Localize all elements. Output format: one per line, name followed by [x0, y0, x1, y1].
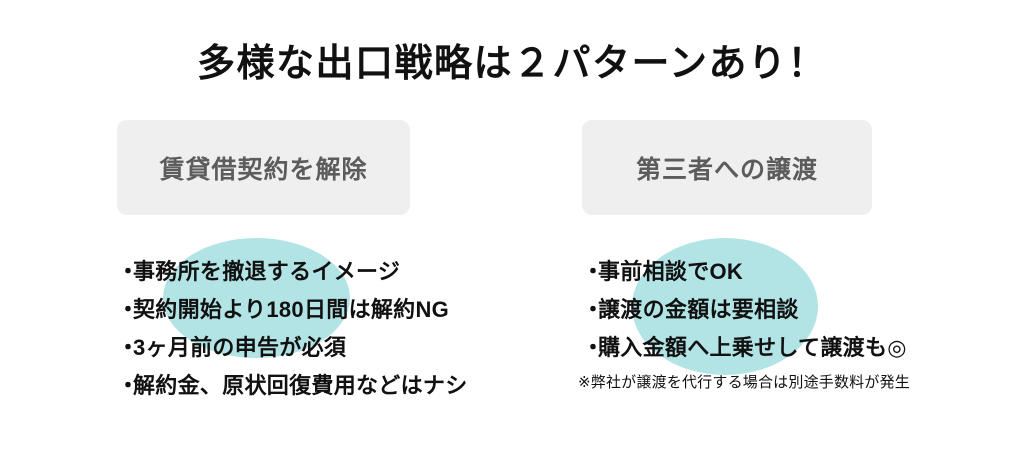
feature-list-left: ・事務所を撤退するイメージ ・契約開始より180日間は解約NG ・3ヶ月前の申告…: [117, 253, 468, 405]
list-item-label: 事前相談でOK: [598, 259, 743, 284]
option-header-box-right: 第三者への譲渡: [582, 120, 872, 215]
page-title: 多様な出口戦略は２パターンあり！: [0, 32, 1024, 87]
list-item-label: 解約金、原状回復費用などはナシ: [133, 373, 468, 398]
bullet-point-icon: ・: [582, 291, 598, 329]
list-item-label: 譲渡の金額は要相談: [598, 297, 799, 322]
footnote-text: ※弊社が譲渡を代行する場合は別途手数料が発生: [578, 371, 910, 392]
list-item: ・事前相談でOK: [582, 253, 907, 291]
list-item: ・契約開始より180日間は解約NG: [117, 291, 468, 329]
option-column-left: 賃貸借契約を解除: [117, 120, 410, 215]
list-item-label: 事務所を撤退するイメージ: [133, 259, 400, 284]
list-item: ・事務所を撤退するイメージ: [117, 253, 468, 291]
list-item: ・3ヶ月前の申告が必須: [117, 329, 468, 367]
bullet-point-icon: ・: [582, 329, 598, 367]
bullet-point-icon: ・: [117, 329, 133, 367]
bullet-point-icon: ・: [117, 291, 133, 329]
bullet-point-icon: ・: [117, 253, 133, 291]
option-column-right: 第三者への譲渡: [582, 120, 872, 215]
option-header-label-right: 第三者への譲渡: [636, 150, 818, 186]
list-item-label: 購入金額へ上乗せして譲渡も◎: [598, 335, 907, 360]
bullet-point-icon: ・: [582, 253, 598, 291]
feature-list-right: ・事前相談でOK ・譲渡の金額は要相談 ・購入金額へ上乗せして譲渡も◎: [582, 253, 907, 367]
list-item-label: 3ヶ月前の申告が必須: [133, 335, 346, 360]
list-item: ・解約金、原状回復費用などはナシ: [117, 367, 468, 405]
option-header-box-left: 賃貸借契約を解除: [117, 120, 410, 215]
list-item: ・購入金額へ上乗せして譲渡も◎: [582, 329, 907, 367]
bullet-point-icon: ・: [117, 367, 133, 405]
list-item: ・譲渡の金額は要相談: [582, 291, 907, 329]
option-header-label-left: 賃貸借契約を解除: [159, 150, 367, 186]
list-item-label: 契約開始より180日間は解約NG: [133, 297, 449, 322]
slide-canvas: 多様な出口戦略は２パターンあり！ 賃貸借契約を解除 ・事務所を撤退するイメージ …: [0, 0, 1024, 466]
